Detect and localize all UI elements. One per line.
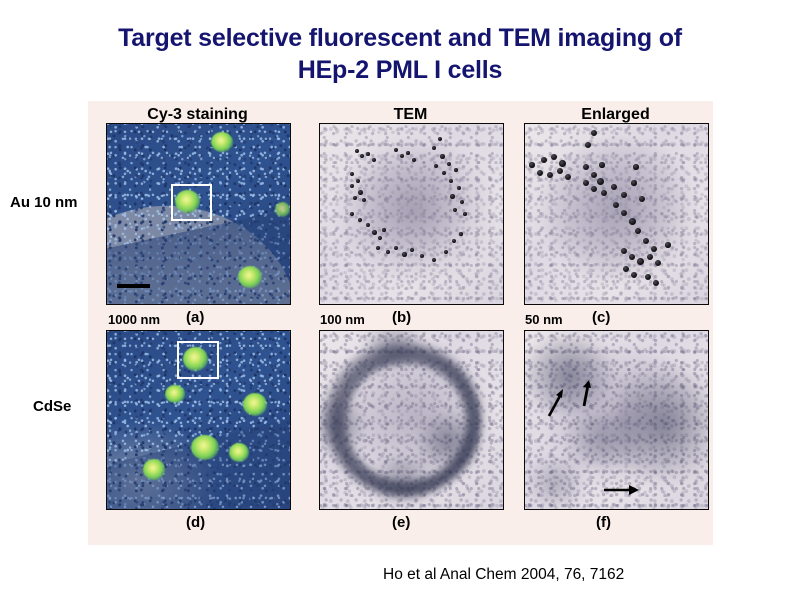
micrograph-panel-f[interactable] [524,330,709,510]
gold-nanoparticle [372,158,376,162]
gold-nanoparticle [613,202,619,208]
micrograph-panel-c[interactable] [524,123,709,305]
gold-nanoparticle [655,260,661,266]
gold-nanoparticle [629,218,636,225]
column-header-tem: TEM [318,106,503,124]
scale-label-a: 1000 nm [108,312,160,327]
gold-nanoparticle [372,230,377,235]
gold-nanoparticle [438,137,442,141]
column-header-enlarged: Enlarged [523,106,708,124]
annotation-arrow-1 [545,387,567,417]
gold-nanoparticle [358,190,363,195]
row-label-au-10-nm: Au 10 nm [10,194,78,211]
panel-caption-c: (c) [592,309,610,326]
gold-nanoparticle [637,258,644,265]
scale-bar [117,284,150,288]
gold-nanoparticle [557,168,563,174]
gold-nanoparticle [599,162,605,168]
gold-nanoparticle [432,146,436,150]
gold-nanoparticle [350,172,354,176]
gold-nanoparticle [353,196,357,200]
gold-nanoparticle [459,232,463,236]
micrograph-panel-d[interactable] [106,330,291,510]
gold-nanoparticle [410,248,414,252]
gold-nanoparticle [611,184,617,190]
micrograph-panel-b[interactable] [319,123,504,305]
roi-selection-box[interactable] [171,184,212,221]
gold-nanoparticle [651,246,657,252]
tem-density-patch [319,387,362,461]
gold-nanoparticle [356,179,360,183]
gold-nanoparticle [378,236,382,240]
gold-nanoparticle [631,180,637,186]
gold-nanoparticle [559,160,566,167]
gold-nanoparticle [633,164,639,170]
gold-nanoparticle [621,192,627,198]
gold-nanoparticle [647,254,653,260]
gold-nanoparticle [400,154,404,158]
gold-nanoparticle [432,258,436,262]
gold-nanoparticle [537,170,543,176]
page-title: Target selective fluorescent and TEM ima… [0,22,800,86]
gold-nanoparticle [402,252,407,257]
gold-nanoparticle [565,174,571,180]
gold-nanoparticle [629,254,635,260]
gold-nanoparticle [449,179,453,183]
gold-nanoparticle [551,154,557,160]
page-title-line-1: Target selective fluorescent and TEM ima… [0,22,800,54]
tem-density-patch [524,459,591,507]
gold-nanoparticle [643,238,649,244]
scale-label-b: 100 nm [320,312,365,327]
gold-nanoparticle [452,239,456,243]
gold-nanoparticle [358,218,362,222]
fluorescent-spot [238,266,262,288]
gold-nanoparticle [583,180,589,186]
gold-nanoparticle [420,254,424,258]
fluorescent-spot [229,443,249,462]
fluorescent-spot [275,202,290,217]
gold-nanoparticle [366,152,370,156]
panel-caption-b: (b) [392,309,411,326]
page-title-line-2: HEp-2 PML I cells [0,54,800,86]
gold-nanoparticle [450,194,455,199]
gold-nanoparticle [665,242,671,248]
gold-nanoparticle [453,208,457,212]
gold-nanoparticle [601,190,607,196]
gold-nanoparticle [386,250,390,254]
gold-nanoparticle [623,266,629,272]
gold-nanoparticle [547,172,553,178]
panel-caption-a: (a) [186,309,204,326]
row-label-cdse: CdSe [33,398,71,415]
gold-nanoparticle [350,212,354,216]
gold-nanoparticle [653,280,659,286]
gold-nanoparticle [541,157,547,163]
gold-nanoparticle [591,172,597,178]
gold-nanoparticle [355,149,359,153]
gold-nanoparticle [591,130,597,136]
gold-nanoparticle [406,151,410,155]
micrograph-panel-a[interactable] [106,123,291,305]
gold-nanoparticle [591,186,597,192]
gold-nanoparticle [350,184,354,188]
annotation-arrow-2 [577,379,595,407]
fluorescent-spot [143,459,165,480]
gold-nanoparticle [597,178,604,185]
tem-density-patch [524,337,623,413]
annotation-arrow-3 [603,483,641,497]
gold-nanoparticle [376,246,380,250]
gold-nanoparticle [463,212,467,216]
panel-caption-e: (e) [392,514,410,531]
gold-nanoparticle [382,228,386,232]
fluorescent-spot [243,393,267,416]
column-header-cy3-staining: Cy-3 staining [105,106,290,124]
gold-nanoparticle [457,186,461,190]
gold-nanoparticle [394,148,398,152]
gold-nanoparticle [635,228,641,234]
gold-nanoparticle [639,196,645,202]
roi-selection-box[interactable] [177,341,219,379]
gold-nanoparticle [447,162,451,166]
gold-nanoparticle [442,171,446,175]
tem-density-patch [354,330,432,367]
gold-nanoparticle [621,210,627,216]
gold-nanoparticle [444,250,448,254]
gold-nanoparticle [529,162,535,168]
gold-nanoparticle [585,142,591,148]
gold-nanoparticle [362,198,366,202]
fluorescent-spot [211,132,233,152]
gold-nanoparticle [360,154,364,158]
panel-caption-d: (d) [186,514,205,531]
gold-nanoparticle [631,272,637,278]
gold-nanoparticle [583,164,589,170]
citation-text: Ho et al Anal Chem 2004, 76, 7162 [383,566,624,584]
gold-nanoparticle [366,223,370,227]
tem-density-patch [555,415,651,465]
micrograph-panel-e[interactable] [319,330,504,510]
scale-label-c: 50 nm [525,312,563,327]
gold-nanoparticle [645,274,651,280]
fluorescent-spot [165,385,185,403]
gold-nanoparticle [454,168,458,172]
gold-nanoparticle [434,164,438,168]
gold-nanoparticle [394,246,398,250]
gold-nanoparticle [412,158,416,162]
tem-density-patch [360,459,446,503]
fluorescent-spot [191,435,219,460]
gold-nanoparticle [460,200,464,204]
gold-nanoparticle [440,154,445,159]
gold-nanoparticle [621,248,627,254]
panel-caption-f: (f) [596,514,611,531]
